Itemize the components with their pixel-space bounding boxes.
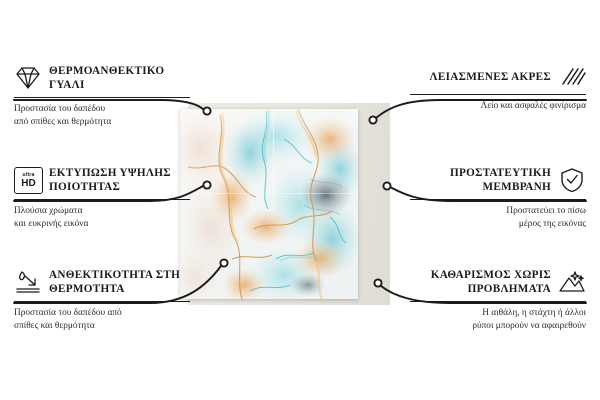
glass-panel xyxy=(180,109,358,299)
heat-resistance-icon xyxy=(14,269,42,295)
easy-clean-sparkle-icon xyxy=(558,269,586,295)
feature-polished-edges: ΛΕΙΑΣΜΕΝΕΣ ΑΚΡΕΣ Λείο και ασφαλές φινίρι… xyxy=(410,64,586,114)
divider xyxy=(410,199,586,200)
feature-description: Προστασία του δαπέδου απόσπίθες και θερμ… xyxy=(14,307,190,333)
feature-title: ΠΡΟΣΤΑΤΕΥΤΙΚΗ ΜΕΜΒΡΑΝΗ xyxy=(410,166,551,195)
feature-description: Η αιθάλη, η στάχτη ή άλλοιρύποι μπορούν … xyxy=(410,307,586,333)
divider xyxy=(410,94,586,95)
product-image xyxy=(180,103,390,305)
feature-description: Λείο και ασφαλές φινίρισμα xyxy=(410,100,586,113)
feature-header: ultra HD ΕΚΤΥΠΩΣΗ ΥΨΗΛΗΣ ΠΟΙΟΤΗΤΑΣ xyxy=(14,166,190,195)
feature-easy-cleaning: ΚΑΘΑΡΙΣΜΟΣ ΧΩΡΙΣ ΠΡΟΒΛΗΜΑΤΑ Η αιθάλη, η … xyxy=(410,268,586,333)
feature-description: Πλούσια χρώματακαι ευκρινής εικόνα xyxy=(14,205,190,231)
hd-label: HD xyxy=(21,179,35,189)
diamond-icon xyxy=(14,65,42,91)
feature-title: ΕΚΤΥΠΩΣΗ ΥΨΗΛΗΣ ΠΟΙΟΤΗΤΑΣ xyxy=(49,166,190,195)
feature-title: ΘΕΡΜΟΑΝΘΕΚΤΙΚΟ ΓΥΑΛΙ xyxy=(49,64,190,93)
ultra-hd-icon: ultra HD xyxy=(14,167,42,193)
feature-high-quality-print: ultra HD ΕΚΤΥΠΩΣΗ ΥΨΗΛΗΣ ΠΟΙΟΤΗΤΑΣ Πλούσ… xyxy=(14,166,190,231)
divider xyxy=(410,301,586,302)
divider xyxy=(14,301,190,302)
feature-header: ΠΡΟΣΤΑΤΕΥΤΙΚΗ ΜΕΜΒΡΑΝΗ xyxy=(410,166,586,195)
feature-header: ΚΑΘΑΡΙΣΜΟΣ ΧΩΡΙΣ ΠΡΟΒΛΗΜΑΤΑ xyxy=(410,268,586,297)
feature-header: ΑΝΘΕΚΤΙΚΟΤΗΤΑ ΣΤΗ ΘΕΡΜΟΤΗΤΑ xyxy=(14,268,190,297)
infographic-stage: ΘΕΡΜΟΑΝΘΕΚΤΙΚΟ ΓΥΑΛΙ Προστασία του δαπέδ… xyxy=(0,0,600,400)
feature-heat-resistant-glass: ΘΕΡΜΟΑΝΘΕΚΤΙΚΟ ΓΥΑΛΙ Προστασία του δαπέδ… xyxy=(14,64,190,129)
feature-header: ΘΕΡΜΟΑΝΘΕΚΤΙΚΟ ΓΥΑΛΙ xyxy=(14,64,190,93)
feature-description: Προστασία του δαπέδουαπό σπίθες και θερμ… xyxy=(14,103,190,129)
feature-title: ΚΑΘΑΡΙΣΜΟΣ ΧΩΡΙΣ ΠΡΟΒΛΗΜΑΤΑ xyxy=(410,268,551,297)
feature-header: ΛΕΙΑΣΜΕΝΕΣ ΑΚΡΕΣ xyxy=(410,64,586,90)
feature-title: ΛΕΙΑΣΜΕΝΕΣ ΑΚΡΕΣ xyxy=(430,70,551,84)
feature-title: ΑΝΘΕΚΤΙΚΟΤΗΤΑ ΣΤΗ ΘΕΡΜΟΤΗΤΑ xyxy=(49,268,190,297)
divider xyxy=(14,97,190,98)
ink-pattern-svg xyxy=(180,109,358,299)
divider xyxy=(14,199,190,200)
shield-check-icon xyxy=(558,167,586,193)
feature-heat-resistance: ΑΝΘΕΚΤΙΚΟΤΗΤΑ ΣΤΗ ΘΕΡΜΟΤΗΤΑ Προστασία το… xyxy=(14,268,190,333)
marble-ink-artwork xyxy=(180,109,358,299)
polished-edges-icon xyxy=(558,64,586,90)
feature-protective-membrane: ΠΡΟΣΤΑΤΕΥΤΙΚΗ ΜΕΜΒΡΑΝΗ Προστατεύει το πί… xyxy=(410,166,586,231)
feature-description: Προστατεύει το πίσωμέρος της εικόνας xyxy=(410,205,586,231)
